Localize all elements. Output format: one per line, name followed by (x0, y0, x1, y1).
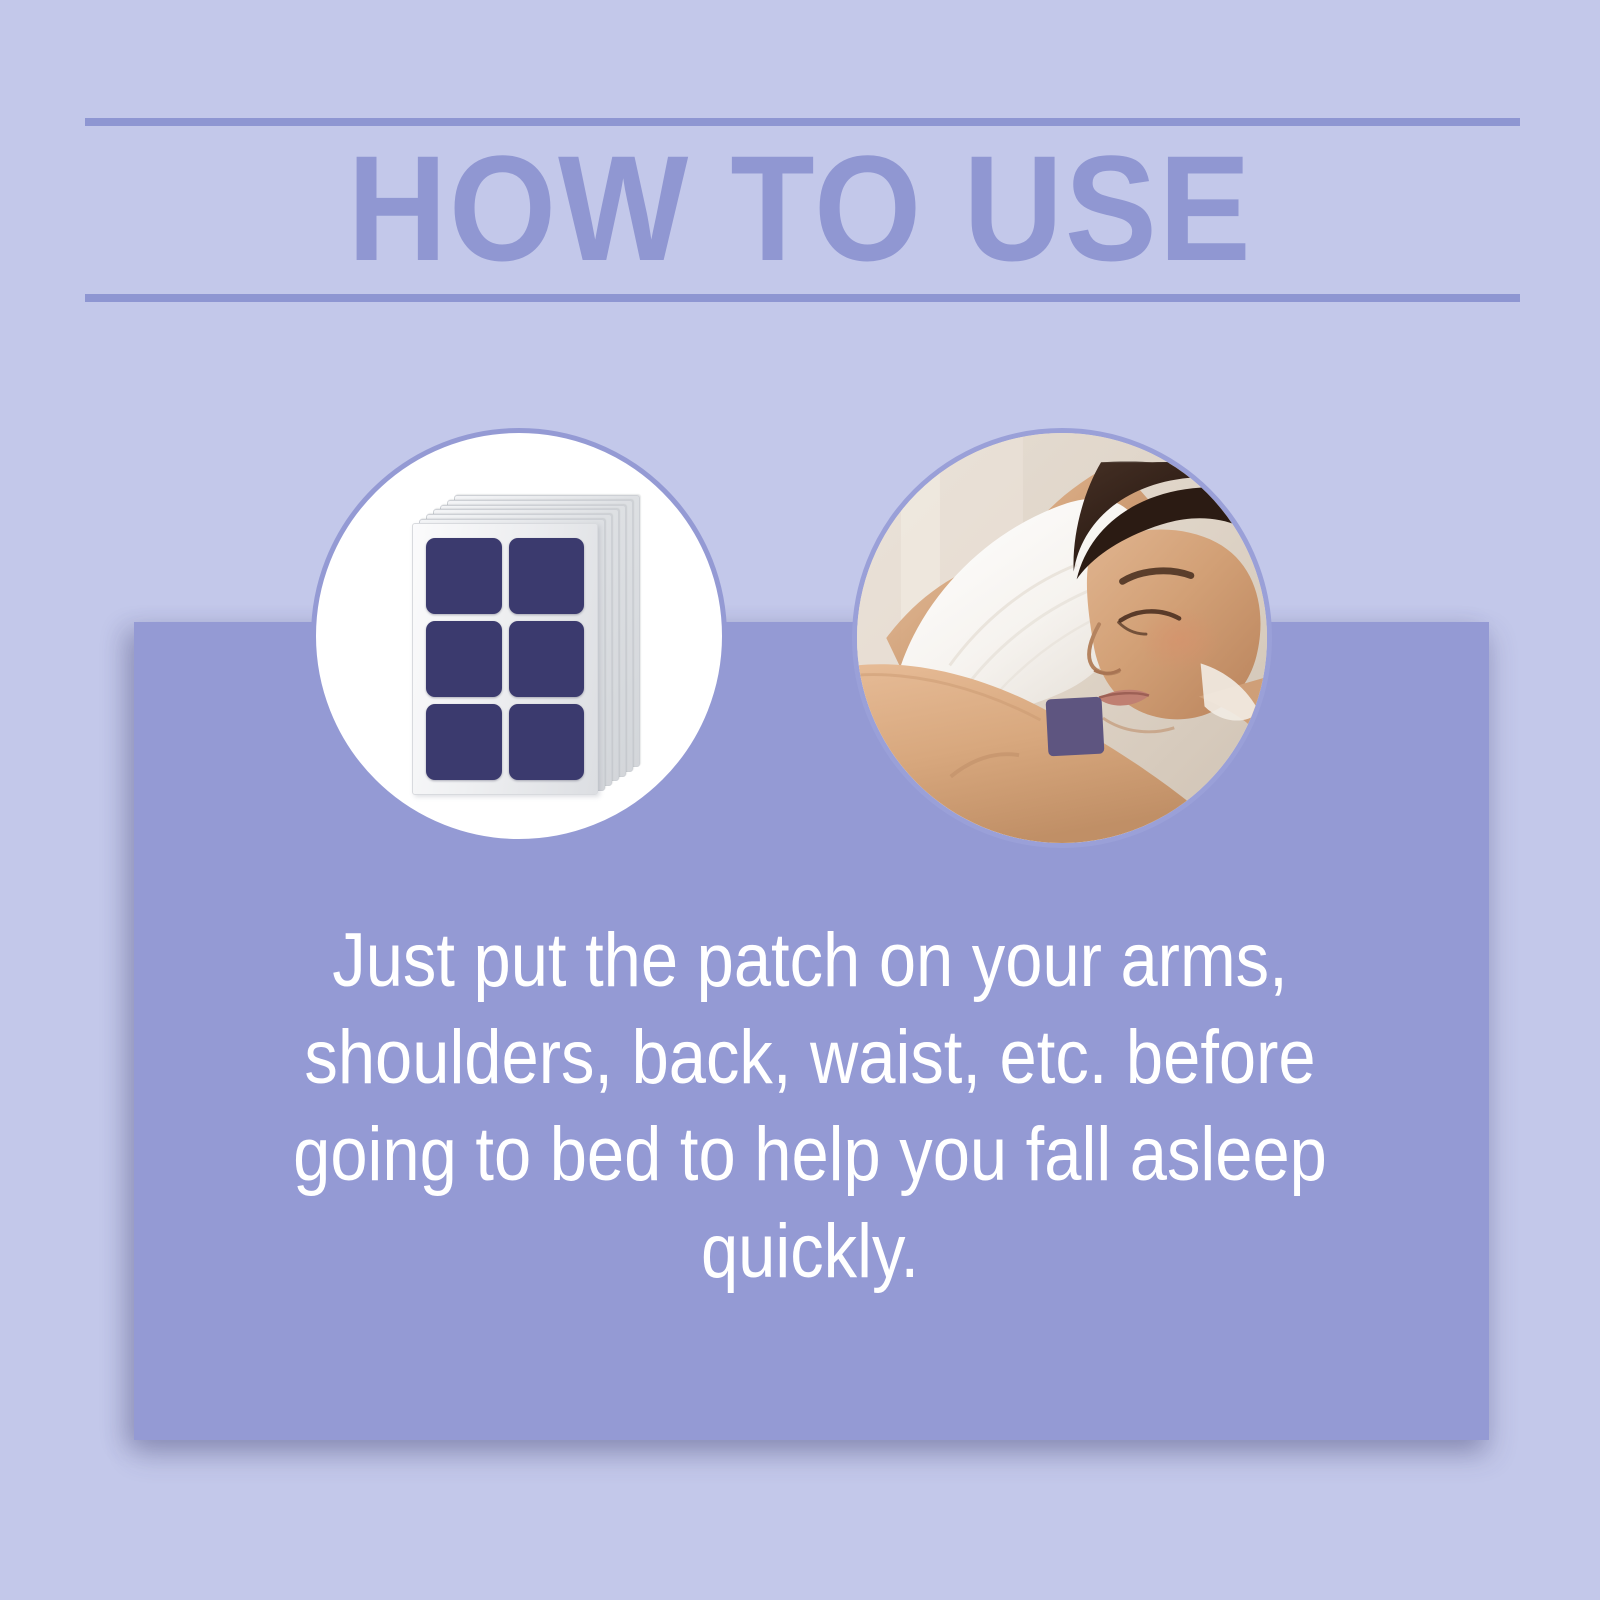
skin-patch-applied (1046, 697, 1105, 757)
title-rule-bottom (85, 294, 1520, 302)
patch-square (509, 621, 585, 697)
patch-square (426, 538, 502, 614)
patch-square (426, 704, 502, 780)
patch-square (509, 704, 585, 780)
instruction-text: Just put the patch on your arms, shoulde… (282, 912, 1338, 1300)
patch-square (426, 621, 502, 697)
infographic-canvas: HOW TO USE (0, 0, 1600, 1600)
patch-square (509, 538, 585, 614)
patch-sheet-illustration (311, 428, 727, 844)
patch-sheet-stack (412, 495, 640, 795)
page-title: HOW TO USE (64, 126, 1536, 290)
patch-sheet-front (412, 523, 598, 795)
sleeping-woman-illustration (857, 433, 1267, 843)
sleeping-woman-photo (852, 428, 1272, 848)
